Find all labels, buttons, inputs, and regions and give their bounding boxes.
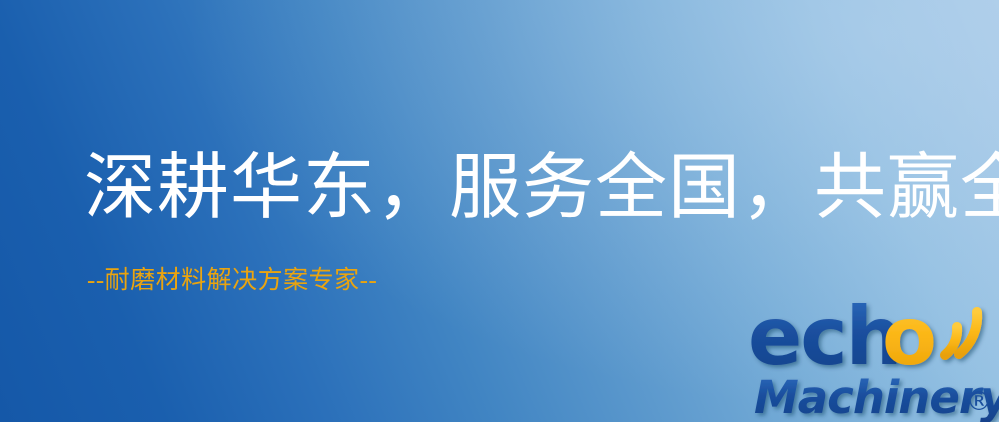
banner-subheadline: --耐磨材料解决方案专家-- [87, 268, 377, 293]
logo-wordmark-prefix: ech [748, 296, 901, 383]
echo-machinery-logo[interactable]: ech o Machinery ® [748, 296, 999, 422]
banner-headline: 深耕华东，服务全国，共赢全球 [84, 152, 999, 224]
logo-wordmark-accent-o: o [882, 296, 937, 383]
hero-banner: 深耕华东，服务全国，共赢全球 --耐磨材料解决方案专家-- [0, 0, 999, 422]
logo-registered-mark: ® [966, 387, 992, 417]
logo-svg: ech o Machinery ® [748, 296, 999, 422]
echo-waves-icon [945, 312, 977, 355]
logo-subtitle: Machinery [754, 371, 999, 422]
